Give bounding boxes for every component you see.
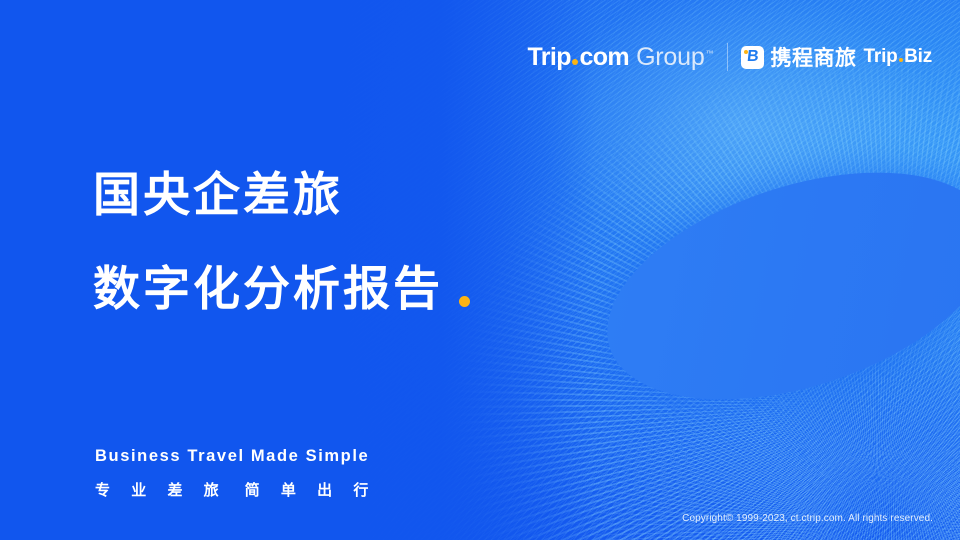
ellipse-glow	[566, 116, 960, 455]
trademark-icon: ™	[706, 49, 714, 58]
title-line-1: 国央企差旅	[93, 172, 470, 219]
title-slide: Tripcom Group™ B 携程商旅 TripBiz 国央企差旅 数字化分…	[0, 0, 960, 540]
copyright-notice: Copyright© 1999-2023, ct.ctrip.com. All …	[682, 513, 933, 524]
tagline-chinese-left: 专 业 差 旅	[95, 481, 227, 499]
tagline-chinese-right: 简 单 出 行	[245, 481, 377, 499]
trip-wordmark-suffix: com	[579, 43, 629, 72]
trip-wordmark-secondary: Group	[636, 43, 704, 72]
title-accent-dot-icon	[459, 296, 470, 307]
trip-biz-mark-icon: B	[741, 46, 764, 69]
title-line-2: 数字化分析报告	[93, 266, 443, 313]
title-line-2-row: 数字化分析报告	[93, 266, 470, 313]
ellipse-swoosh-shape	[579, 129, 960, 443]
trip-biz-mark-glyph: B	[746, 49, 758, 65]
trip-biz-english-left: Trip	[864, 46, 898, 67]
trip-wordmark-primary: Trip	[528, 43, 571, 72]
page-title: 国央企差旅 数字化分析报告	[93, 172, 470, 313]
logo-bar: Tripcom Group™ B 携程商旅 TripBiz	[528, 42, 932, 72]
trip-biz-english-name: TripBiz	[864, 46, 932, 68]
radial-ray-fan-lower	[557, 248, 960, 540]
logo-divider	[727, 43, 728, 71]
trip-logo-dot-icon	[572, 59, 578, 65]
trip-biz-logo: B 携程商旅 TripBiz	[741, 42, 932, 72]
radial-ray-fan-upper	[442, 43, 960, 540]
trip-biz-english-dot-icon	[899, 58, 904, 63]
tagline-english: Business Travel Made Simple	[95, 447, 376, 466]
tagline-chinese: 专 业 差 旅简 单 出 行	[95, 479, 376, 500]
trip-biz-chinese-name: 携程商旅	[771, 42, 857, 72]
trip-biz-english-right: Biz	[904, 46, 932, 67]
tagline: Business Travel Made Simple 专 业 差 旅简 单 出…	[95, 447, 376, 500]
trip-com-group-logo: Tripcom Group™	[528, 43, 714, 72]
